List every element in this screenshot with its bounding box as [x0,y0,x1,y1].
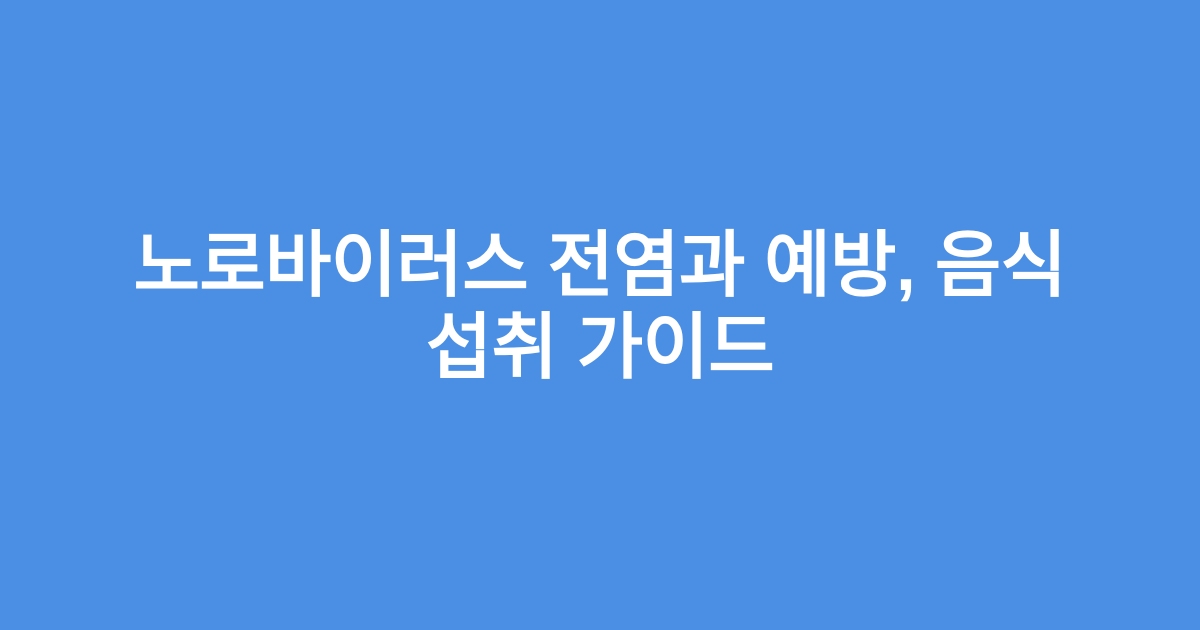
title-block: 노로바이러스 전염과 예방, 음식 섭취 가이드 [0,225,1200,389]
og-image-card: 노로바이러스 전염과 예방, 음식 섭취 가이드 [0,0,1200,630]
page-title: 노로바이러스 전염과 예방, 음식 섭취 가이드 [86,225,1114,389]
